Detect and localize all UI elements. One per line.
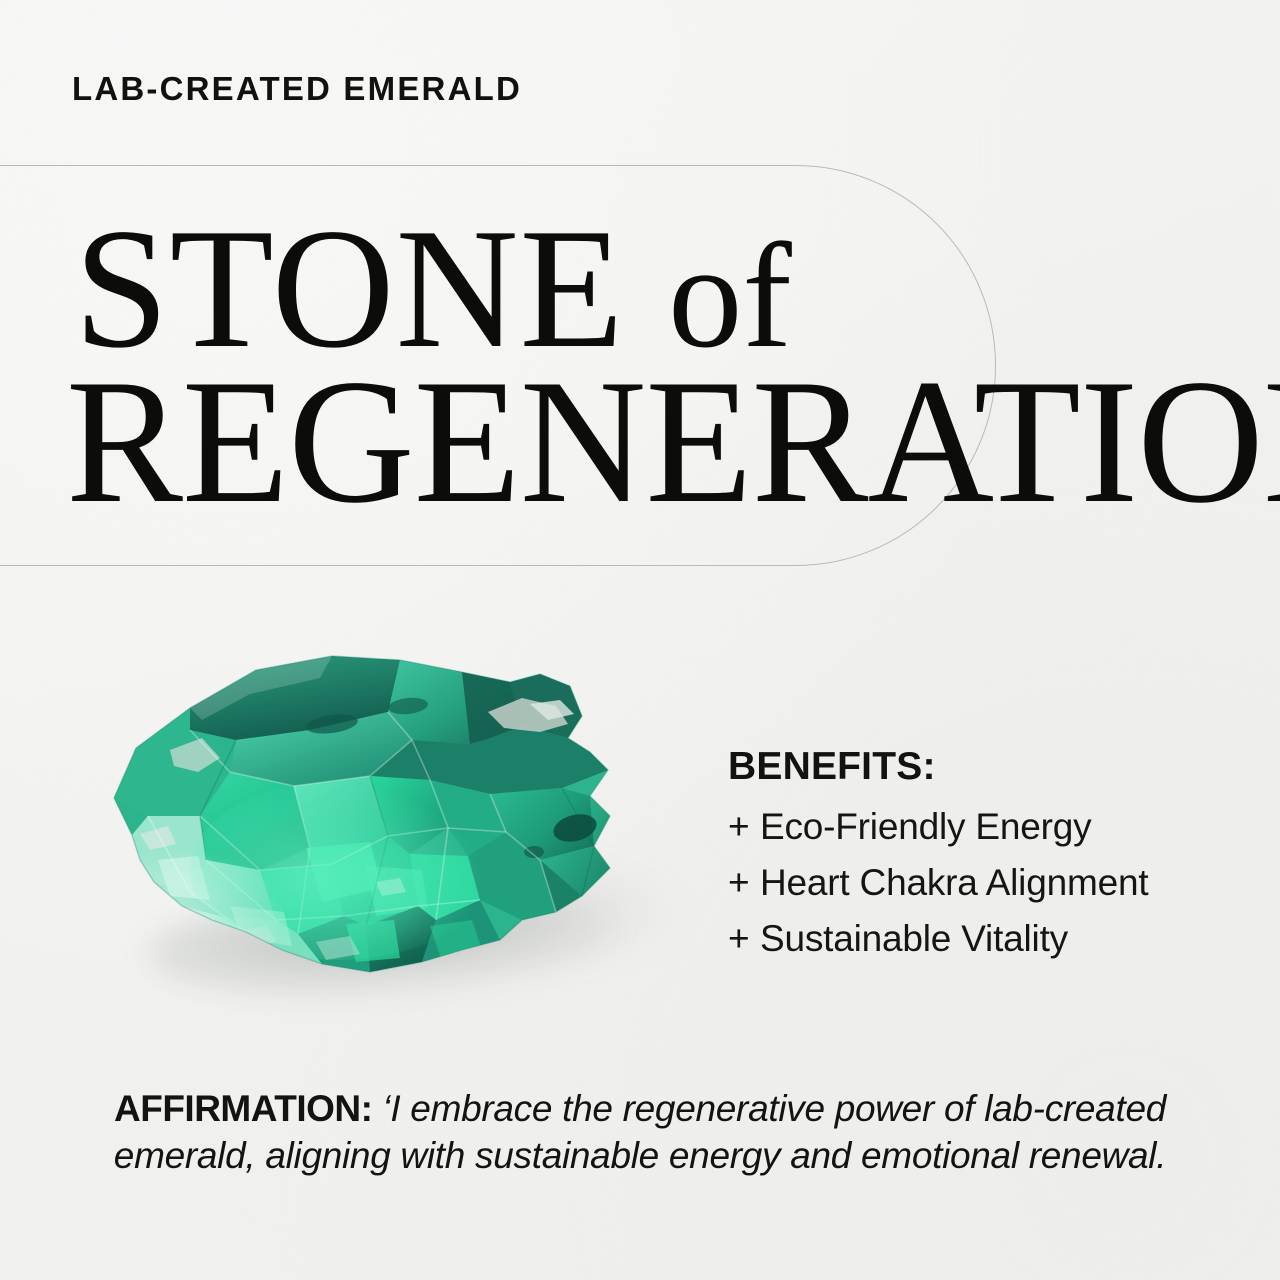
affirmation-label: AFFIRMATION: [114,1088,372,1129]
benefits-title: BENEFITS: [728,745,1268,789]
affirmation-block: AFFIRMATION: ‘I embrace the regenerative… [60,1086,1220,1180]
headline-line-2: REGENERATION [66,352,1280,530]
benefits-block: BENEFITS: +Eco-Friendly Energy +Heart Ch… [728,745,1268,968]
benefit-item-label: Heart Chakra Alignment [760,862,1148,903]
benefit-bullet-icon: + [728,911,760,967]
benefit-bullet-icon: + [728,855,760,911]
benefit-bullet-icon: + [728,799,760,855]
benefit-item-label: Sustainable Vitality [760,918,1068,959]
rough-emerald-crystal-icon [70,620,670,1040]
benefit-item-label: Eco-Friendly Energy [760,806,1091,847]
benefit-item: +Sustainable Vitality [728,911,1268,967]
benefit-item: +Eco-Friendly Energy [728,799,1268,855]
gemstone-figure [70,620,670,1040]
poster-canvas: LAB-CREATED EMERALD STONE of REGENERATIO… [0,0,1280,1280]
eyebrow-label: LAB-CREATED EMERALD [72,70,522,108]
benefit-item: +Heart Chakra Alignment [728,855,1268,911]
